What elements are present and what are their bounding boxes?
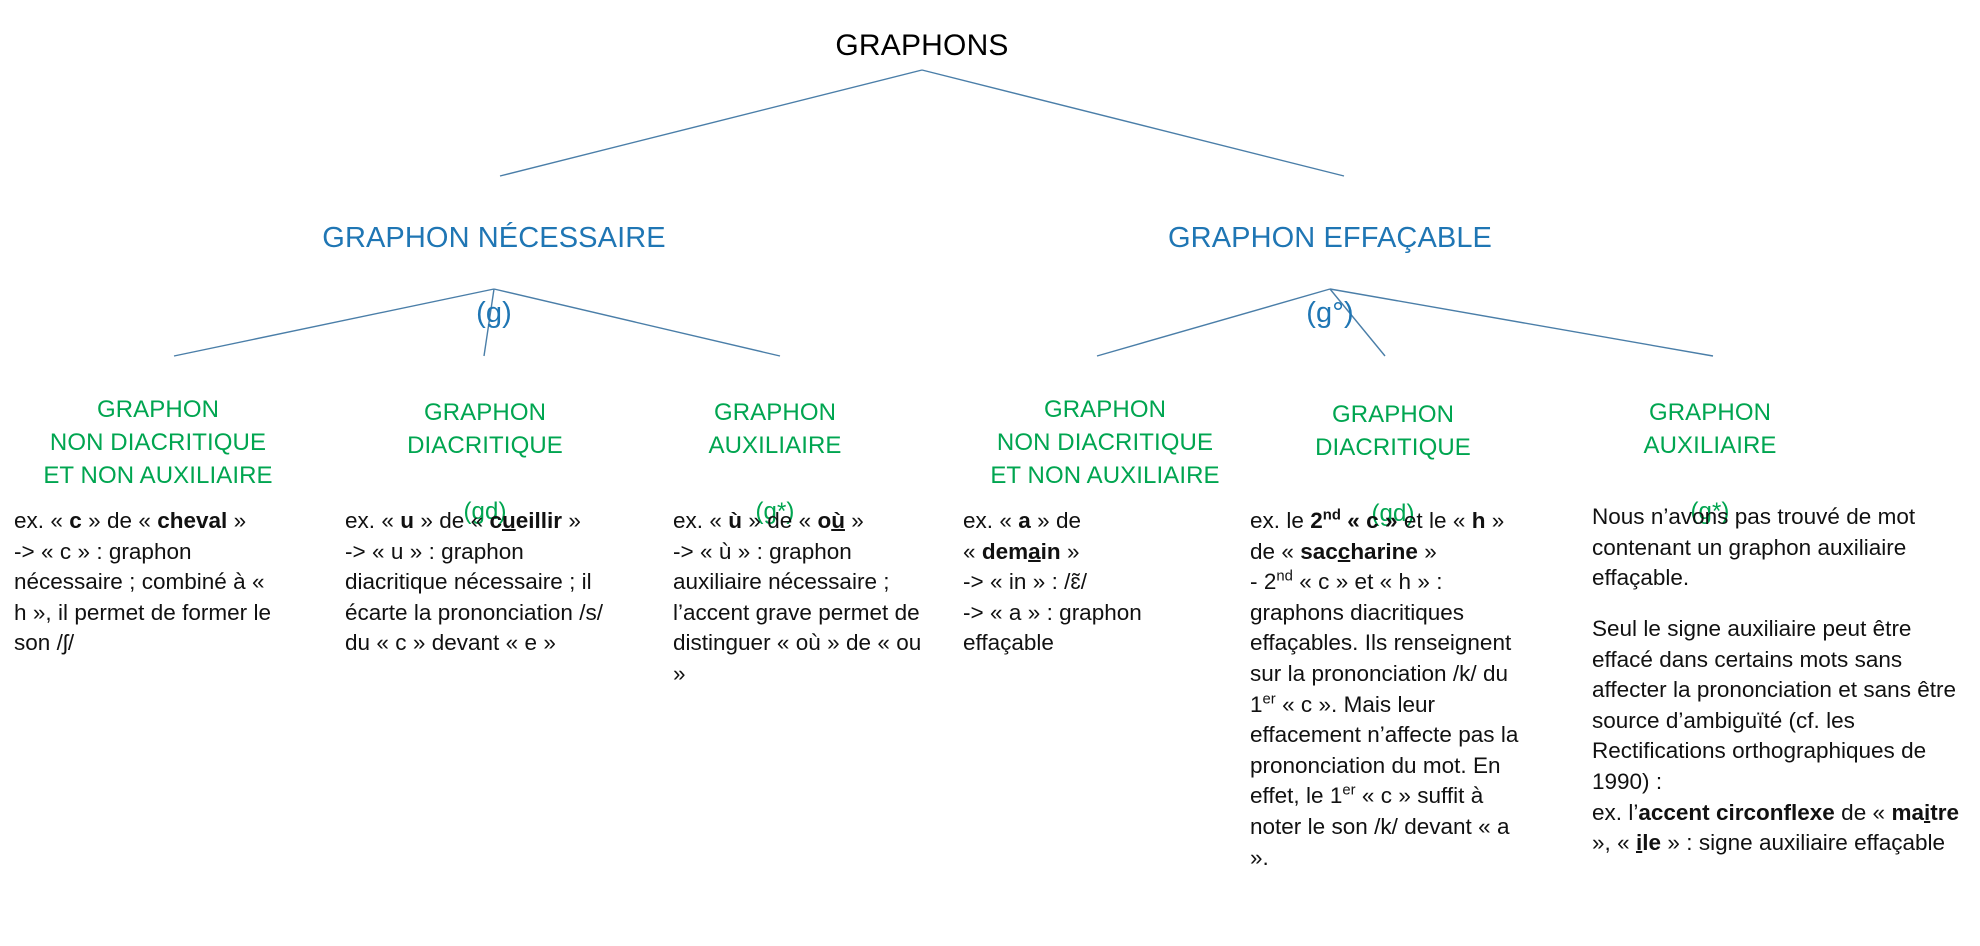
node-effacable-auxiliaire-label: GRAPHON AUXILIAIRE xyxy=(1643,399,1776,459)
node-graphon-effacable-code: (g°) xyxy=(1306,297,1353,329)
node-graphon-effacable[interactable]: GRAPHON EFFAÇABLE (g°) xyxy=(1100,182,1560,333)
node-effacable-non-diacritique-label: GRAPHON NON DIACRITIQUE ET NON AUXILIAIR… xyxy=(990,396,1219,489)
node-necessaire-auxiliaire-label: GRAPHON AUXILIAIRE xyxy=(708,399,841,459)
node-necessaire-diacritique-label: GRAPHON DIACRITIQUE xyxy=(407,399,563,459)
edge-root-to-necessaire xyxy=(500,70,922,176)
example-effacable-diacritique: ex. le 2nd « c » et le « h » de « saccha… xyxy=(1250,506,1530,873)
node-graphon-necessaire[interactable]: GRAPHON NÉCESSAIRE (g) xyxy=(264,182,724,333)
node-root-graphons: GRAPHONS xyxy=(722,26,1122,65)
example-effacable-non-diacritique: ex. « a » de « demain » -> « in » : /ɛ̃/… xyxy=(963,506,1213,659)
node-necessaire-auxiliaire[interactable]: GRAPHON AUXILIAIRE (g*) xyxy=(630,363,920,529)
edge-root-to-effacable xyxy=(922,70,1344,176)
node-effacable-non-diacritique[interactable]: GRAPHON NON DIACRITIQUE ET NON AUXILIAIR… xyxy=(955,360,1255,492)
example-necessaire-diacritique: ex. « u » de « cueillir » -> « u » : gra… xyxy=(345,506,617,659)
node-necessaire-diacritique[interactable]: GRAPHON DIACRITIQUE (gd) xyxy=(340,363,630,529)
node-graphon-necessaire-code: (g) xyxy=(476,297,512,329)
node-effacable-diacritique-label: GRAPHON DIACRITIQUE xyxy=(1315,401,1471,461)
example-necessaire-auxiliaire: ex. « ù » de « où » -> « ù » : graphon a… xyxy=(673,506,935,690)
example-effacable-auxiliaire: Nous n’avons pas trouvé de mot contenant… xyxy=(1592,502,1964,859)
diagram-canvas: GRAPHONS GRAPHON NÉCESSAIRE (g) GRAPHON … xyxy=(0,0,1980,946)
example-necessaire-non-diacritique: ex. « c » de « cheval » -> « c » : graph… xyxy=(14,506,282,659)
node-graphon-effacable-label: GRAPHON EFFAÇABLE xyxy=(1168,222,1492,254)
node-necessaire-non-diacritique[interactable]: GRAPHON NON DIACRITIQUE ET NON AUXILIAIR… xyxy=(8,360,308,492)
node-necessaire-non-diacritique-label: GRAPHON NON DIACRITIQUE ET NON AUXILIAIR… xyxy=(43,396,272,489)
node-graphon-necessaire-label: GRAPHON NÉCESSAIRE xyxy=(322,222,665,254)
